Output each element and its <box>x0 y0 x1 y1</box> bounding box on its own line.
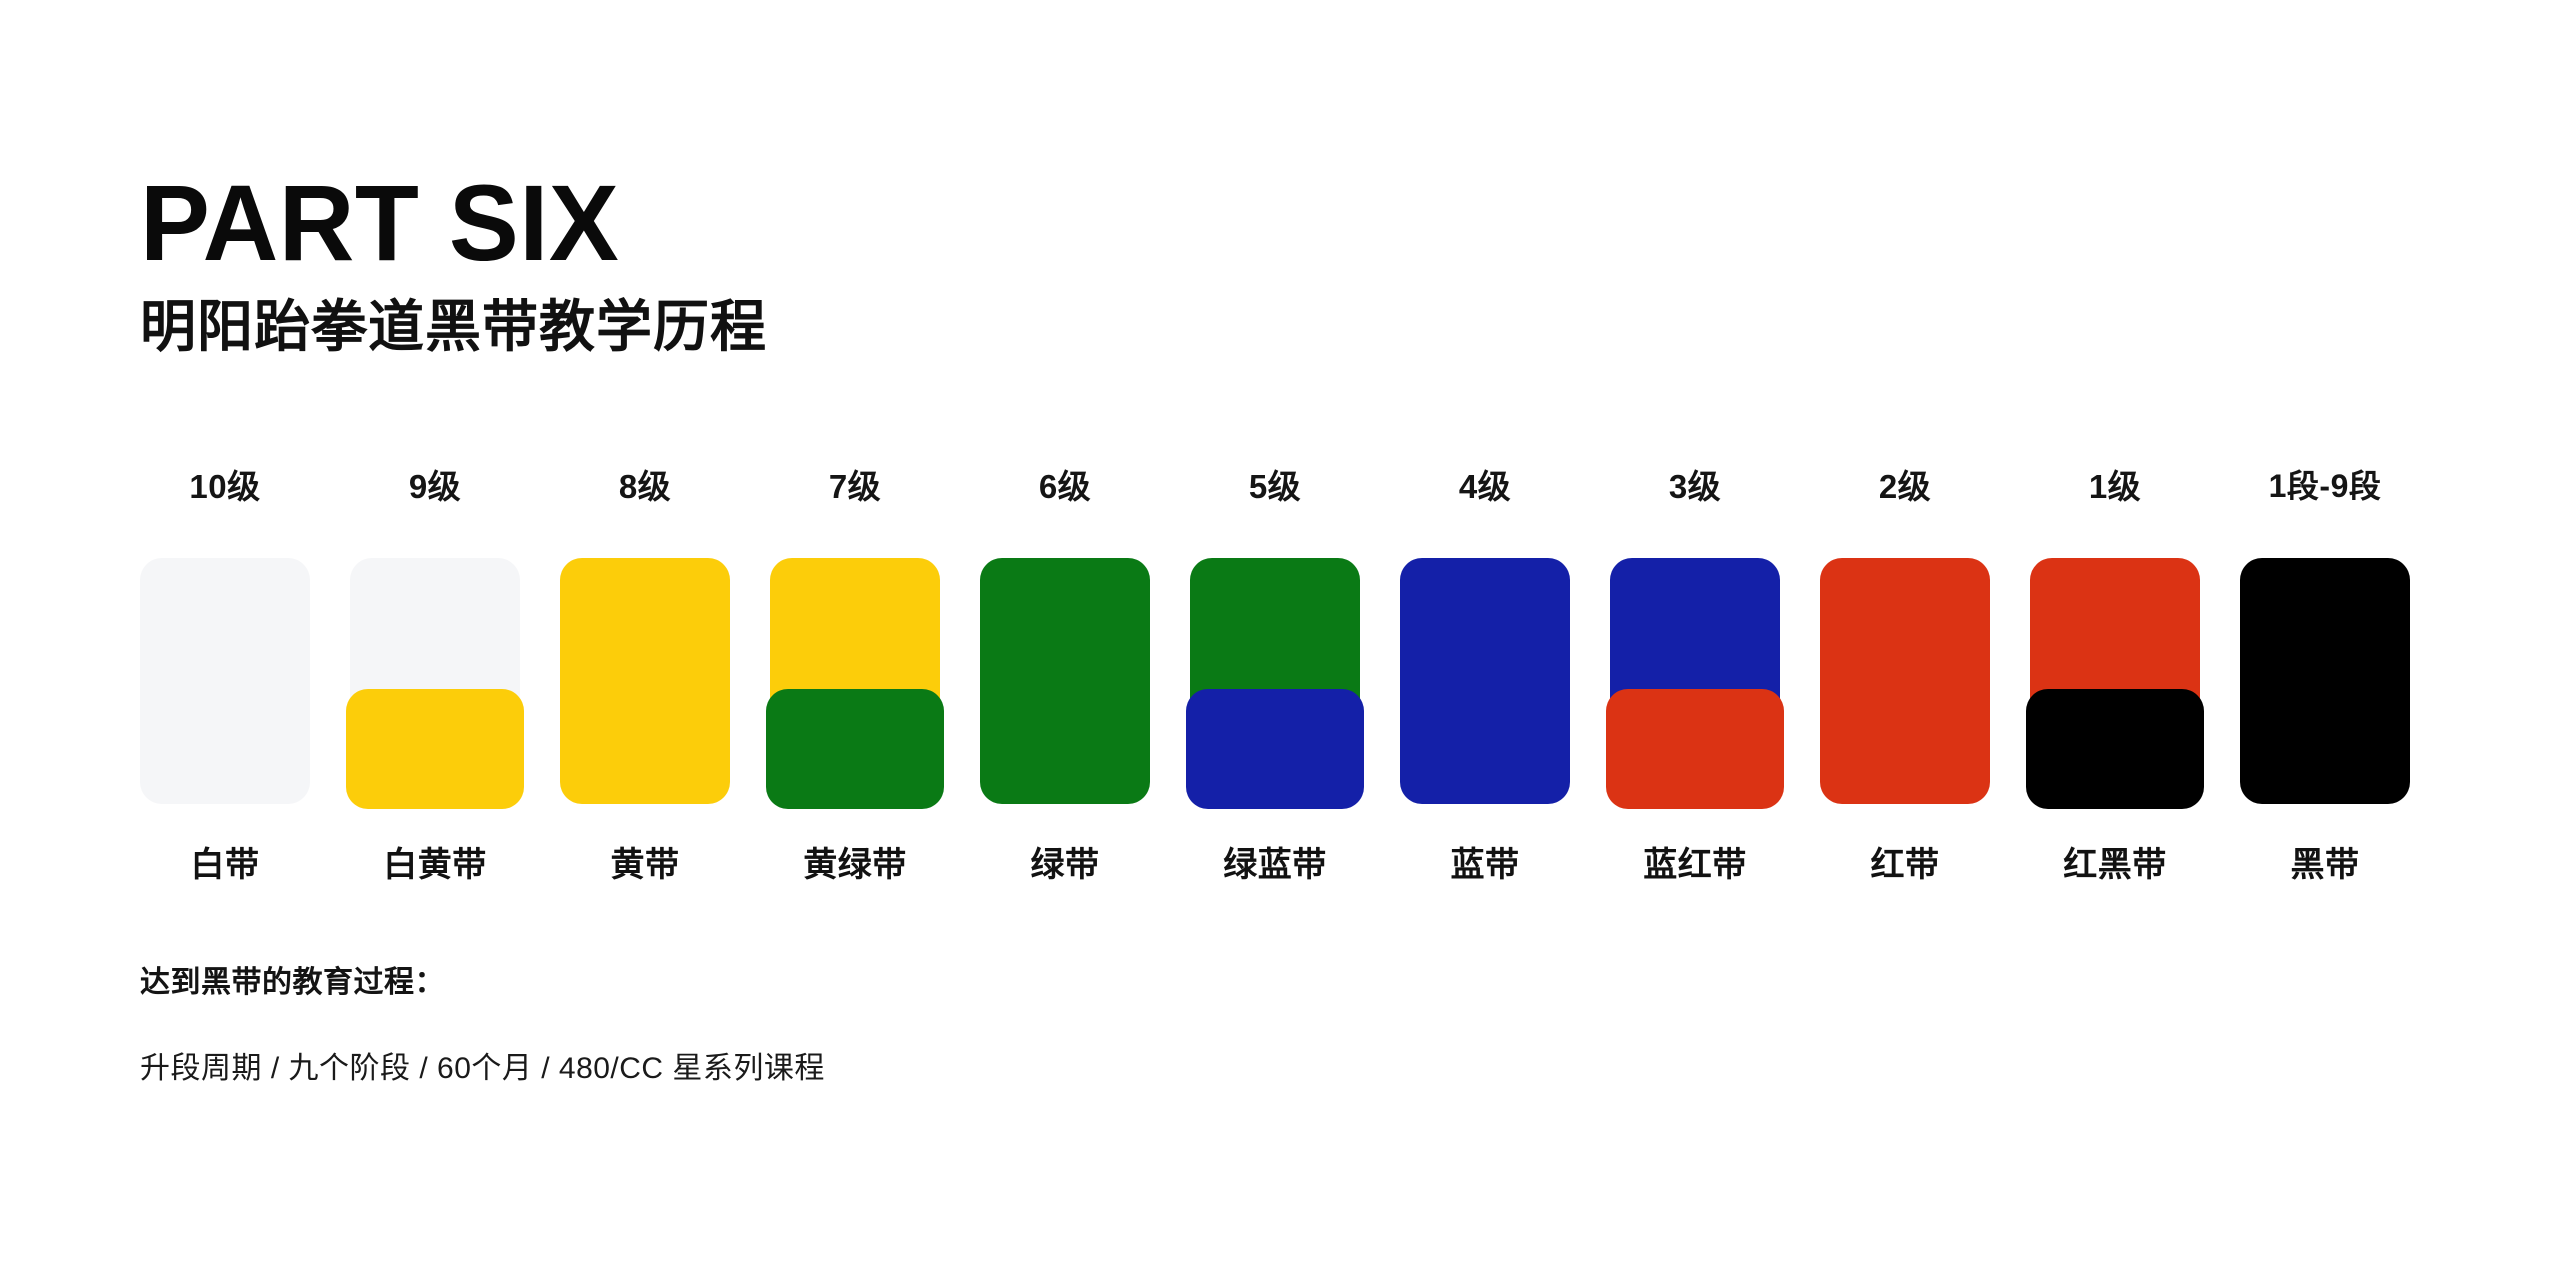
belt-column[interactable]: 7级黄绿带 <box>770 470 940 882</box>
belt-swatch[interactable] <box>560 558 730 804</box>
belt-name-label: 蓝红带 <box>1643 848 1747 882</box>
footer-detail: 升段周期 / 九个阶段 / 60个月 / 480/CC 星系列课程 <box>140 1054 2420 1084</box>
belt-swatch[interactable] <box>140 558 310 804</box>
belt-swatch[interactable] <box>2030 558 2200 804</box>
belt-column[interactable]: 1级红黑带 <box>2030 470 2200 882</box>
belt-swatch[interactable] <box>1400 558 1570 804</box>
belt-name-label: 黄绿带 <box>803 848 907 882</box>
belt-grade-label: 2级 <box>1879 470 1931 506</box>
belt-name-label: 红带 <box>1871 848 1940 882</box>
belt-column[interactable]: 8级黄带 <box>560 470 730 882</box>
slide-root: PART SIX 明阳跆拳道黑带教学历程 10级白带9级白黄带8级黄带7级黄绿带… <box>0 0 2560 1280</box>
page-title: PART SIX <box>140 168 2352 278</box>
belt-swatch[interactable] <box>350 558 520 804</box>
belt-name-label: 黑带 <box>2291 848 2360 882</box>
belt-swatch[interactable] <box>770 558 940 804</box>
belt-name-label: 绿带 <box>1031 848 1100 882</box>
belt-swatch-secondary <box>2026 689 2204 809</box>
belt-swatch-primary <box>1820 558 1990 804</box>
belt-swatch-primary <box>980 558 1150 804</box>
belt-swatch-secondary <box>346 689 524 809</box>
belt-grade-label: 3级 <box>1669 470 1721 506</box>
belt-grade-label: 8级 <box>619 470 671 506</box>
belt-swatch-secondary <box>766 689 944 809</box>
belt-grade-label: 5级 <box>1249 470 1301 506</box>
belt-grade-label: 9级 <box>409 470 461 506</box>
belt-column[interactable]: 9级白黄带 <box>350 470 520 882</box>
belt-swatch[interactable] <box>1190 558 1360 804</box>
belt-column[interactable]: 5级绿蓝带 <box>1190 470 1360 882</box>
belt-column[interactable]: 1段-9段黑带 <box>2240 470 2410 882</box>
belt-swatch-secondary <box>1186 689 1364 809</box>
belt-progression-track: 10级白带9级白黄带8级黄带7级黄绿带6级绿带5级绿蓝带4级蓝带3级蓝红带2级红… <box>140 470 2436 882</box>
belt-grade-label: 1段-9段 <box>2269 470 2382 506</box>
belt-grade-label: 7级 <box>829 470 881 506</box>
belt-grade-label: 6级 <box>1039 470 1091 506</box>
belt-swatch-primary <box>560 558 730 804</box>
belt-column[interactable]: 4级蓝带 <box>1400 470 1570 882</box>
belt-column[interactable]: 3级蓝红带 <box>1610 470 1780 882</box>
belt-grade-label: 4级 <box>1459 470 1511 506</box>
belt-column[interactable]: 10级白带 <box>140 470 310 882</box>
belt-swatch[interactable] <box>1610 558 1780 804</box>
belt-swatch[interactable] <box>1820 558 1990 804</box>
belt-swatch-primary <box>2240 558 2410 804</box>
belt-swatch-primary <box>1400 558 1570 804</box>
belt-name-label: 白带 <box>191 848 260 882</box>
belt-swatch-secondary <box>1606 689 1784 809</box>
belt-name-label: 黄带 <box>611 848 680 882</box>
belt-swatch[interactable] <box>2240 558 2410 804</box>
belt-name-label: 红黑带 <box>2063 848 2167 882</box>
belt-swatch[interactable] <box>980 558 1150 804</box>
belt-grade-label: 10级 <box>189 470 260 506</box>
footer-heading: 达到黑带的教育过程： <box>140 968 2420 998</box>
page-subtitle: 明阳跆拳道黑带教学历程 <box>140 292 2420 362</box>
belt-column[interactable]: 6级绿带 <box>980 470 1150 882</box>
belt-name-label: 绿蓝带 <box>1223 848 1327 882</box>
footer-block: 达到黑带的教育过程： 升段周期 / 九个阶段 / 60个月 / 480/CC 星… <box>140 968 2420 1084</box>
belt-column[interactable]: 2级红带 <box>1820 470 1990 882</box>
belt-swatch-primary <box>140 558 310 804</box>
belt-name-label: 蓝带 <box>1451 848 1520 882</box>
heading-block: PART SIX 明阳跆拳道黑带教学历程 <box>140 168 2420 362</box>
belt-grade-label: 1级 <box>2089 470 2141 506</box>
belt-name-label: 白黄带 <box>383 848 487 882</box>
